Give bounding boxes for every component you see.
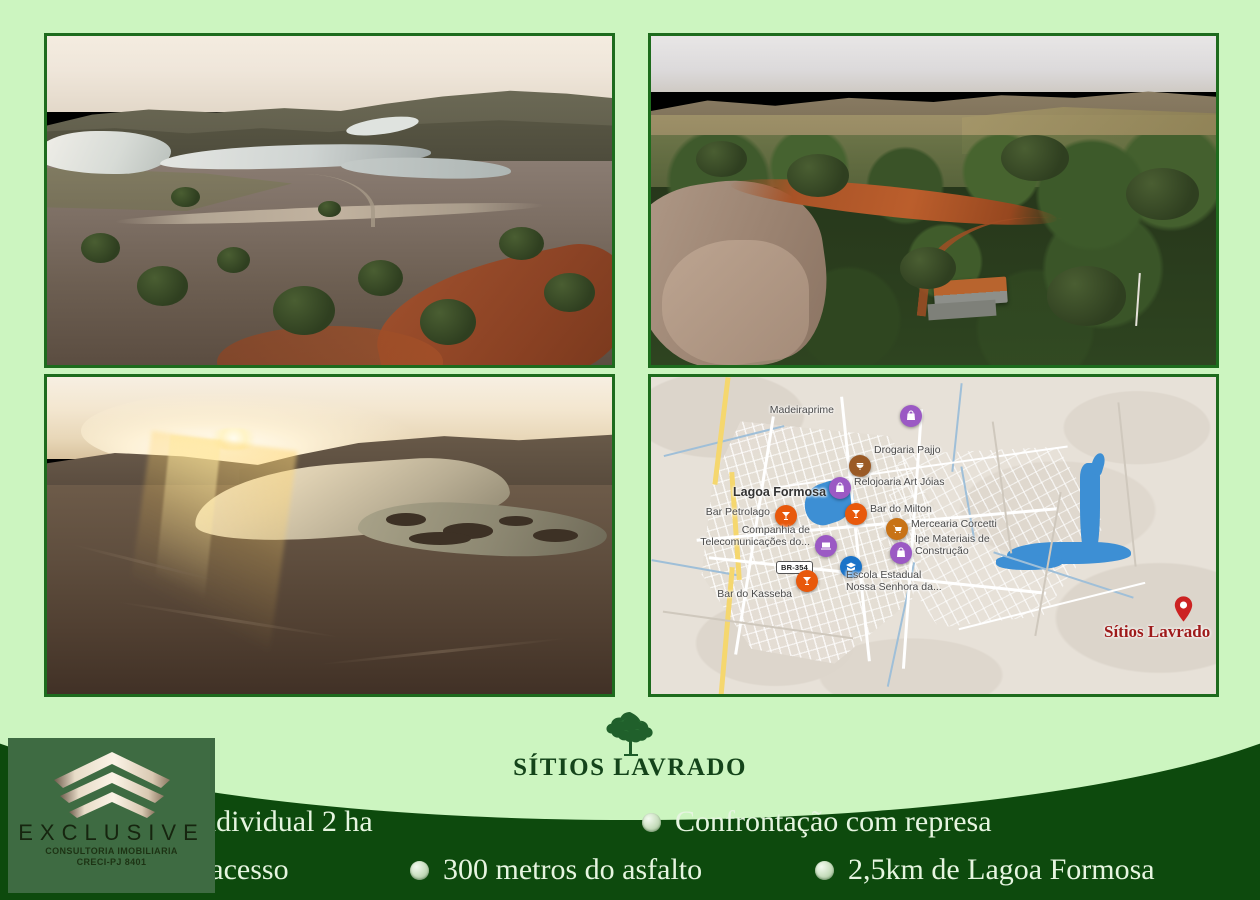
- poi-label-drogaria-pajjo: Drogaria Pajjo: [874, 444, 941, 456]
- poi-ipe-materiais-icon[interactable]: [890, 542, 912, 564]
- poi-label-bar-do-kasseba: Bar do Kasseba: [717, 588, 792, 600]
- feature-bullet-lagoa-formosa: 2,5km de Lagoa Formosa: [815, 853, 1155, 887]
- feature-label: Confrontação com represa: [675, 805, 992, 839]
- poi-label-line1: Ipe Materiais de: [915, 533, 990, 545]
- poi-label-bar-petrolago: Bar Petrolago: [706, 506, 770, 518]
- tree-icon: [602, 708, 658, 756]
- bullet-dot-icon: [815, 861, 834, 880]
- poi-bar-do-milton-icon[interactable]: [845, 503, 867, 525]
- bullet-dot-icon: [642, 813, 661, 832]
- poi-label-ipe-materiais: Ipe Materiais de Construção: [915, 533, 990, 557]
- poi-label-escola-estadual: Escola Estadual Nossa Senhora da...: [846, 569, 942, 593]
- poi-drogaria-pajjo-icon[interactable]: [849, 455, 871, 477]
- poi-bar-do-kasseba-icon[interactable]: [796, 570, 818, 592]
- feature-bullet-represa: Confrontação com represa: [642, 805, 992, 839]
- photo-aerial-lake-pasture: [44, 33, 615, 368]
- photo-sunset-reservoir: [44, 374, 615, 697]
- poi-mercearia-corcetti-icon[interactable]: [886, 518, 908, 540]
- poster-root: BR-354 Madeiraprime Drogaria Pajjo Reloj…: [0, 0, 1260, 900]
- feature-label: 2,5km de Lagoa Formosa: [848, 853, 1155, 887]
- poi-label-relojoaria-art-joias: Relojoaria Art Jóias: [854, 476, 944, 488]
- logo-creci: CRECI-PJ 8401: [8, 857, 215, 867]
- logo-subtitle: CONSULTORIA IMOBILIARIA: [8, 846, 215, 856]
- logo-wordmark: EXCLUSIVE: [8, 820, 215, 846]
- poi-companhia-telecom-icon[interactable]: [815, 535, 837, 557]
- poi-label-lagoa-formosa: Lagoa Formosa: [733, 485, 826, 499]
- poi-label-line2: Nossa Senhora da...: [846, 581, 942, 593]
- site-location-label: Sítios Lavrado: [1104, 622, 1210, 642]
- poi-label-line2: Construção: [915, 545, 969, 557]
- poi-label-mercearia-corcetti: Mercearia Corcetti: [911, 518, 997, 530]
- exclusive-logo[interactable]: EXCLUSIVE CONSULTORIA IMOBILIARIA CRECI-…: [8, 738, 215, 893]
- poi-relojoaria-art-joias-icon[interactable]: [829, 477, 851, 499]
- poi-label-bar-do-milton: Bar do Milton: [870, 503, 932, 515]
- photo-aerial-forest-house: [648, 33, 1219, 368]
- bullet-dot-icon: [410, 861, 429, 880]
- poi-label-line1: Escola Estadual: [846, 569, 921, 581]
- poi-label-line1: Companhia de: [742, 524, 810, 536]
- poi-label-line2: Telecomunicações do...: [700, 536, 810, 548]
- poi-madeiraprime-icon[interactable]: [900, 405, 922, 427]
- poi-label-companhia-telecom: Companhia de Telecomunicações do...: [700, 524, 810, 548]
- building-chevron-icon: [37, 750, 187, 828]
- poi-label-madeiraprime: Madeiraprime: [770, 404, 834, 416]
- feature-label: 300 metros do asfalto: [443, 853, 702, 887]
- feature-bullet-asfalto: 300 metros do asfalto: [410, 853, 702, 887]
